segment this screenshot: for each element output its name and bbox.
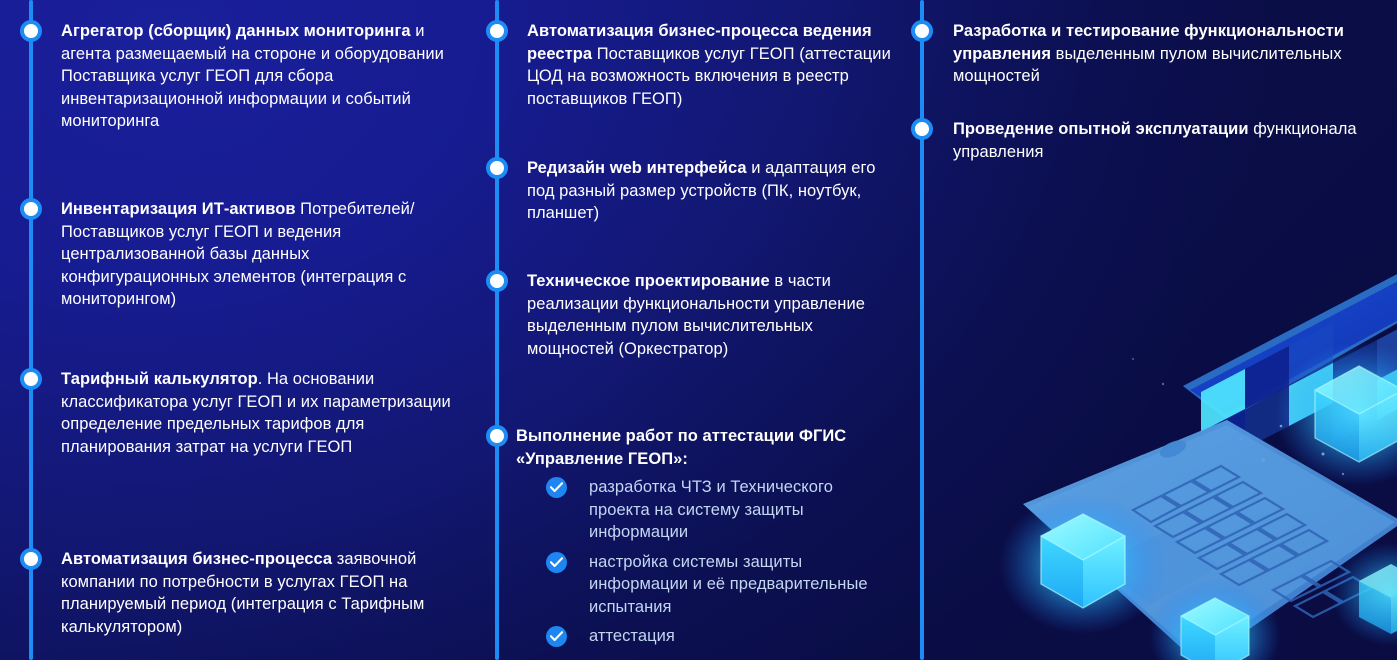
timeline-item[interactable]: Техническое проектирование в части реали… — [484, 270, 894, 360]
timeline-item[interactable]: Автоматизация бизнес-процесса заявочной … — [18, 548, 458, 638]
timeline-item-text: Инвентаризация ИТ-активов Потребителей/П… — [61, 198, 458, 311]
timeline-bullet-icon — [20, 548, 42, 570]
timeline-item-title: Тарифный калькулятор — [61, 370, 258, 388]
timeline-item[interactable]: Разработка и тестирование функциональнос… — [909, 20, 1379, 88]
check-circle-icon — [546, 477, 567, 498]
timeline-item-title: Инвентаризация ИТ-активов — [61, 200, 296, 218]
list-item-label: разработка ЧТЗ и Технического проекта на… — [589, 478, 833, 541]
timeline-bullet-icon — [911, 20, 933, 42]
timeline-item[interactable]: Выполнение работ по аттестации ФГИС «Упр… — [484, 425, 894, 648]
timeline-item-title: Проведение опытной эксплуатации — [953, 120, 1249, 138]
column-1: Агрегатор (сборщик) данных мониторинга и… — [18, 0, 458, 660]
timeline-item-title: Агрегатор (сборщик) данных мониторинга — [61, 22, 411, 40]
timeline-bullet-icon — [20, 368, 42, 390]
timeline-item-title: Редизайн web интерфейса — [527, 159, 747, 177]
timeline-bullet-icon — [486, 20, 508, 42]
timeline-item[interactable]: Тарифный калькулятор. На основании класс… — [18, 368, 458, 458]
list-item[interactable]: аттестация — [546, 625, 894, 648]
timeline-bullet-icon — [911, 118, 933, 140]
timeline-bullet-icon — [486, 425, 508, 447]
timeline-item[interactable]: Автоматизация бизнес-процесса ведения ре… — [484, 20, 894, 110]
column-2: Автоматизация бизнес-процесса ведения ре… — [484, 0, 894, 660]
timeline-item-text: Разработка и тестирование функциональнос… — [953, 20, 1379, 88]
column-3: Разработка и тестирование функциональнос… — [909, 0, 1379, 660]
list-item-label: настройка системы защиты информации и её… — [589, 553, 868, 616]
timeline-item-text: Проведение опытной эксплуатации функцион… — [953, 118, 1379, 163]
timeline-item[interactable]: Редизайн web интерфейса и адаптация его … — [484, 157, 894, 225]
timeline-item-text: Агрегатор (сборщик) данных мониторинга и… — [61, 20, 458, 133]
timeline-line-3 — [920, 0, 924, 660]
list-item[interactable]: настройка системы защиты информации и её… — [546, 551, 894, 619]
timeline-item[interactable]: Проведение опытной эксплуатации функцион… — [909, 118, 1379, 163]
timeline-bullet-icon — [486, 270, 508, 292]
check-circle-icon — [546, 552, 567, 573]
timeline-bullet-icon — [486, 157, 508, 179]
timeline-item-text: Автоматизация бизнес-процесса заявочной … — [61, 548, 458, 638]
timeline-item-title: Техническое проектирование — [527, 272, 770, 290]
timeline-item[interactable]: Агрегатор (сборщик) данных мониторинга и… — [18, 20, 458, 133]
timeline-item-text: Автоматизация бизнес-процесса ведения ре… — [527, 20, 894, 110]
timeline-bullet-icon — [20, 20, 42, 42]
timeline-bullet-icon — [20, 198, 42, 220]
attestation-checklist: разработка ЧТЗ и Технического проекта на… — [546, 476, 894, 648]
timeline-item-text: Выполнение работ по аттестации ФГИС «Упр… — [516, 425, 894, 648]
timeline-item-text: Техническое проектирование в части реали… — [527, 270, 894, 360]
timeline-item-title: Автоматизация бизнес-процесса — [61, 550, 332, 568]
timeline-item[interactable]: Инвентаризация ИТ-активов Потребителей/П… — [18, 198, 458, 311]
list-item[interactable]: разработка ЧТЗ и Технического проекта на… — [546, 476, 894, 544]
timeline-item-title: Выполнение работ по аттестации ФГИС «Упр… — [516, 427, 846, 468]
timeline-item-text: Редизайн web интерфейса и адаптация его … — [527, 157, 894, 225]
slide-canvas: Агрегатор (сборщик) данных мониторинга и… — [0, 0, 1397, 660]
check-circle-icon — [546, 626, 567, 647]
timeline-item-text: Тарифный калькулятор. На основании класс… — [61, 368, 458, 458]
list-item-label: аттестация — [589, 627, 675, 645]
